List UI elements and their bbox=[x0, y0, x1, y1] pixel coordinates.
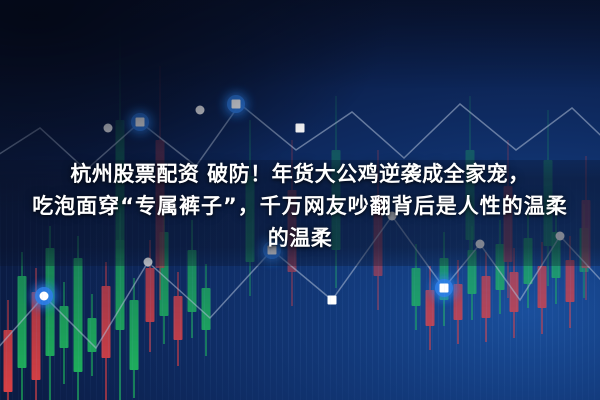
headline-line-3: 的温柔 bbox=[0, 222, 600, 254]
headline-text: 杭州股票配资 破防！年货大公鸡逆袭成全家宠， 吃泡面穿“专属裤子”，千万网友吵翻… bbox=[0, 158, 600, 254]
banner-image: 杭州股票配资 破防！年货大公鸡逆袭成全家宠， 吃泡面穿“专属裤子”，千万网友吵翻… bbox=[0, 0, 600, 400]
headline-line-1: 杭州股票配资 破防！年货大公鸡逆袭成全家宠， bbox=[0, 158, 600, 190]
headline-line-2: 吃泡面穿“专属裤子”，千万网友吵翻背后是人性的温柔 bbox=[0, 190, 600, 222]
